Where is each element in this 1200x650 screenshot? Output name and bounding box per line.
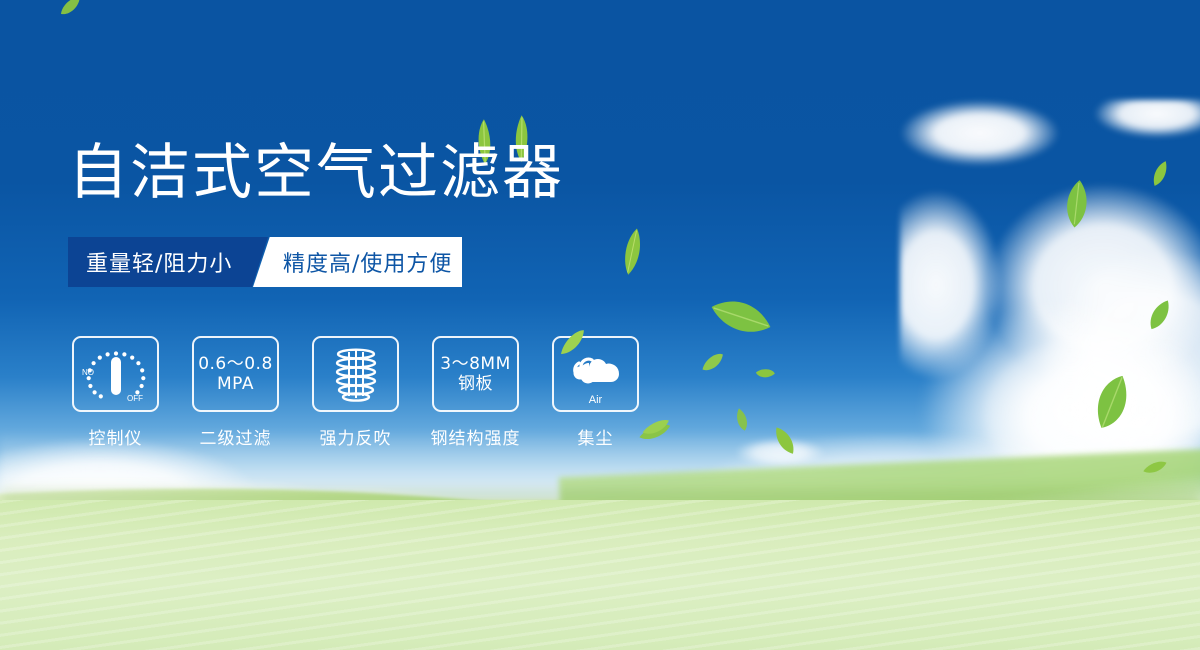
feature-icon-box <box>312 336 399 412</box>
subtitle-bar: 重量轻/阻力小 精度高/使用方便 <box>68 237 462 287</box>
subtitle-left-panel: 重量轻/阻力小 <box>68 237 268 287</box>
leaf-icon <box>1148 158 1173 190</box>
leaf-icon <box>1054 177 1098 232</box>
feature-label: 控制仪 <box>89 424 143 449</box>
feature-item-dust-collection[interactable]: Air 集尘 <box>552 336 639 449</box>
feature-icon-box: NO OFF <box>72 336 159 412</box>
feature-label: 强力反吹 <box>320 424 392 449</box>
grass-foreground <box>0 500 1200 650</box>
feature-item-strong-backflush[interactable]: 强力反吹 <box>312 336 399 449</box>
gauge-dial-icon: NO OFF <box>79 343 153 405</box>
pressure-text-icon: 0.6～0.8 MPA <box>198 354 273 394</box>
dial-label-off: OFF <box>127 394 143 403</box>
leaf-icon <box>616 226 647 278</box>
feature-item-two-stage-filter[interactable]: 0.6～0.8 MPA 二级过滤 <box>192 336 279 449</box>
feature-icon-box: 3～8MM 钢板 <box>432 336 519 412</box>
leaf-icon <box>1080 371 1144 434</box>
subtitle-right-text: 精度高/使用方便 <box>283 246 452 278</box>
feature-icon-box: Air <box>552 336 639 412</box>
leaf-icon <box>732 407 752 434</box>
pressure-unit: MPA <box>198 374 273 394</box>
feature-item-steel-strength[interactable]: 3～8MM 钢板 钢结构强度 <box>432 336 519 449</box>
subtitle-left-text: 重量轻/阻力小 <box>86 246 232 278</box>
leaf-icon <box>753 365 776 384</box>
feature-label: 二级过滤 <box>200 424 272 449</box>
steel-plate-text-icon: 3～8MM 钢板 <box>440 354 510 394</box>
steel-material: 钢板 <box>440 374 510 394</box>
feature-item-control-instrument[interactable]: NO OFF 控制仪 <box>72 336 159 449</box>
pressure-range: 0.6～0.8 <box>198 354 273 374</box>
leaf-icon <box>56 0 85 19</box>
cloud-large-right <box>900 100 1200 480</box>
page-title: 自洁式空气过滤器 <box>68 143 564 203</box>
product-banner: 自洁式空气过滤器 重量轻/阻力小 精度高/使用方便 <box>0 0 1200 650</box>
feature-list: NO OFF 控制仪 0.6～0.8 MPA 二级过滤 <box>72 336 639 449</box>
leaf-icon <box>1141 295 1176 335</box>
air-caption: Air <box>554 394 637 406</box>
dial-label-no: NO <box>82 368 94 377</box>
feature-label: 钢结构强度 <box>431 424 521 449</box>
filter-cartridge-icon <box>328 345 384 403</box>
feature-icon-box: 0.6～0.8 MPA <box>192 336 279 412</box>
leaf-icon <box>768 422 802 460</box>
leaf-icon <box>698 351 728 374</box>
steel-thickness: 3～8MM <box>440 354 510 374</box>
feature-label: 集尘 <box>578 424 614 449</box>
subtitle-right-panel: 精度高/使用方便 <box>253 237 462 287</box>
leaf-icon <box>705 280 777 354</box>
cloud-air-icon <box>567 352 625 392</box>
